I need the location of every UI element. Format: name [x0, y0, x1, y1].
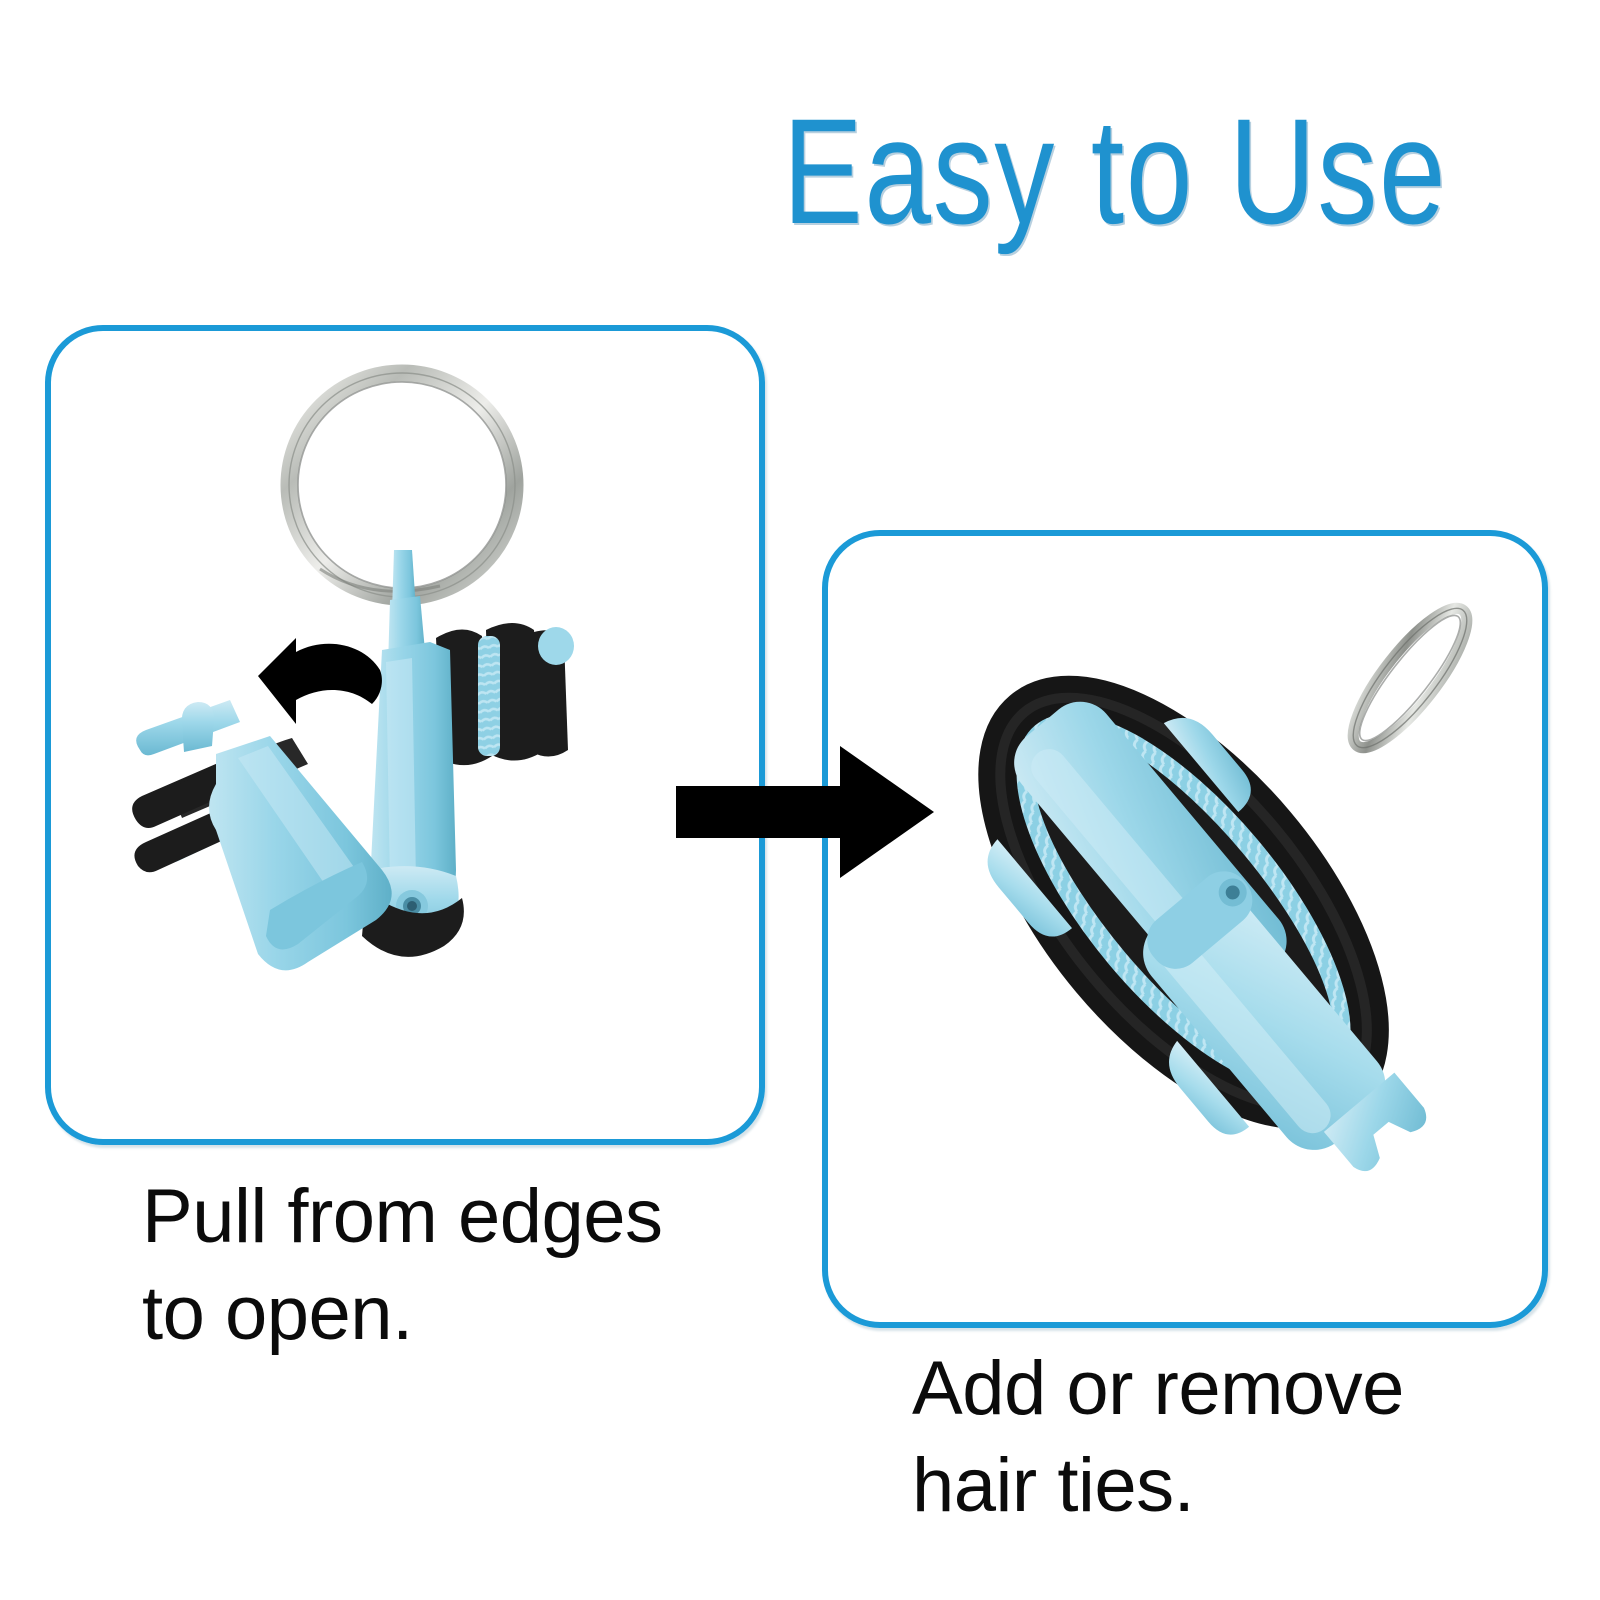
product-image-open-state — [120, 350, 680, 1110]
caption-open-state: Pull from edges to open. — [142, 1168, 782, 1363]
caption-closed-state: Add or remove hair ties. — [912, 1340, 1572, 1535]
lower-arm — [132, 700, 392, 970]
hair-ties-upper — [436, 623, 574, 765]
page-title: Easy to Use — [751, 96, 1479, 246]
keyring-icon — [1337, 600, 1484, 762]
product-image-closed-state — [850, 600, 1530, 1220]
curved-arrow-down-left-icon — [252, 628, 392, 740]
step-transition-arrow-right-icon — [672, 742, 938, 882]
